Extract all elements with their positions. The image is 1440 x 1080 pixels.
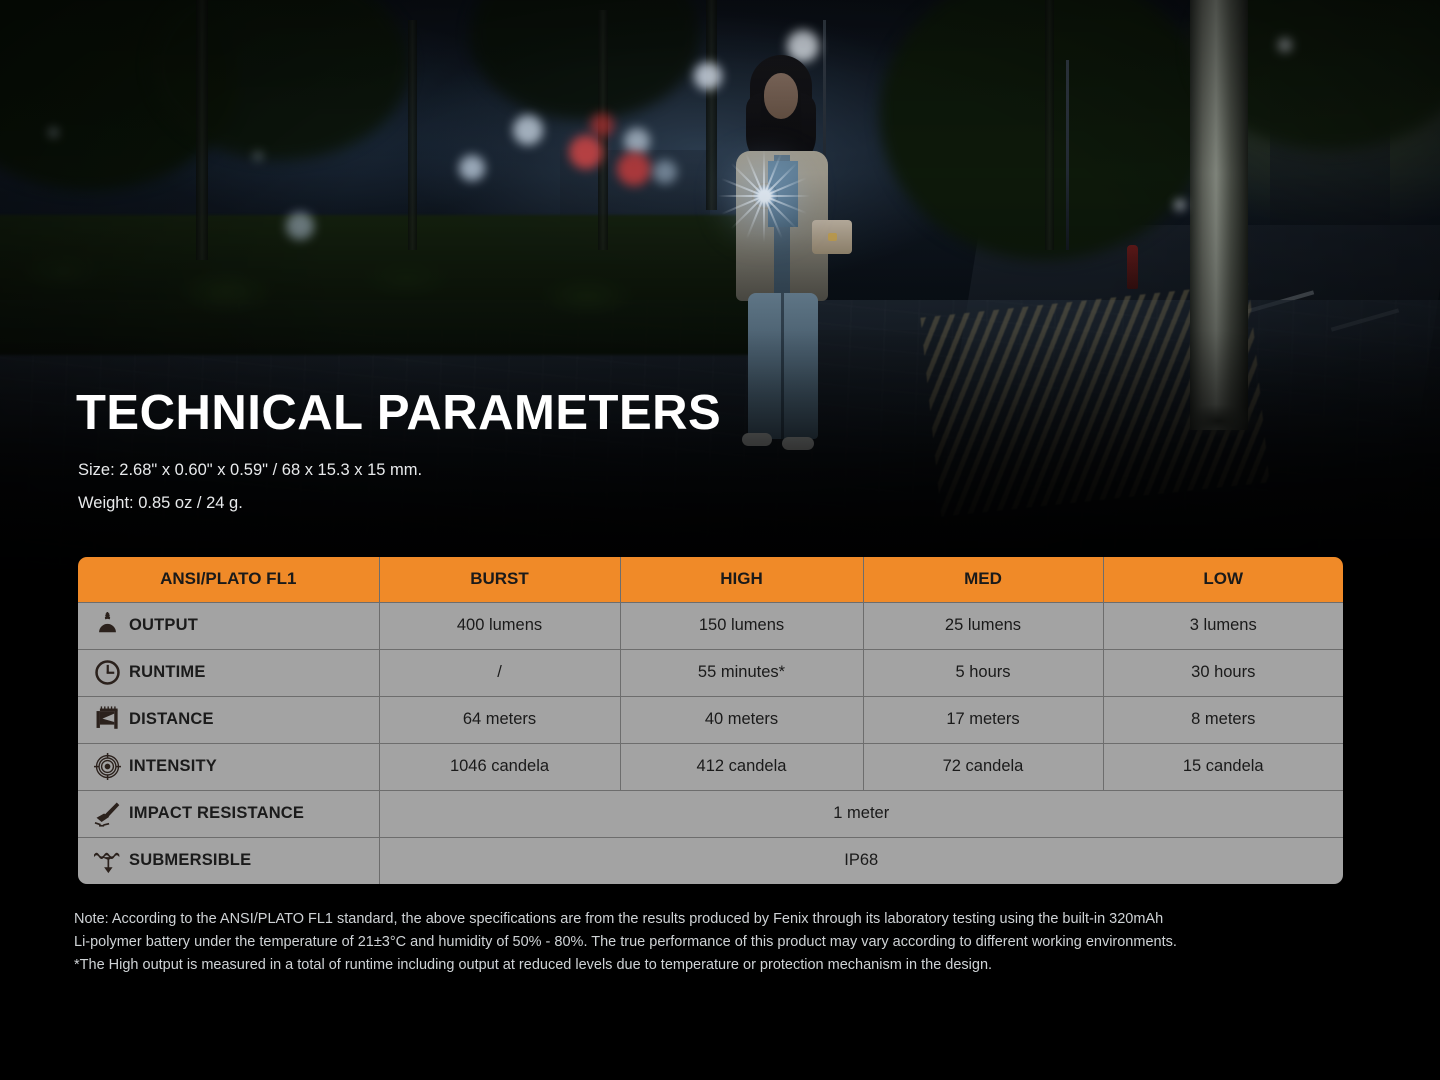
cell-intensity-low: 15 candela [1103, 743, 1343, 790]
content-layer: TECHNICAL PARAMETERS Size: 2.68" x 0.60"… [0, 0, 1440, 1080]
sunburst-icon [94, 612, 121, 639]
table-row: DISTANCE 64 meters 40 meters 17 meters 8… [78, 696, 1343, 743]
table-row: SUBMERSIBLE IP68 [78, 837, 1343, 884]
table-row: INTENSITY 1046 candela 412 candela 72 ca… [78, 743, 1343, 790]
table-row: IMPACT RESISTANCE 1 meter [78, 790, 1343, 837]
cell-distance-low: 8 meters [1103, 696, 1343, 743]
cell-runtime-low: 30 hours [1103, 649, 1343, 696]
cell-output-med: 25 lumens [863, 602, 1103, 649]
target-intensity-icon [94, 753, 121, 780]
row-label-text: INTENSITY [129, 757, 217, 776]
beam-distance-icon [94, 706, 121, 733]
size-line: Size: 2.68" x 0.60" x 0.59" / 68 x 15.3 … [78, 461, 422, 480]
clock-icon [94, 659, 121, 686]
cell-output-low: 3 lumens [1103, 602, 1343, 649]
footnote-block: Note: According to the ANSI/PLATO FL1 st… [74, 908, 1374, 977]
row-label-distance: DISTANCE [78, 696, 379, 743]
row-label-intensity: INTENSITY [78, 743, 379, 790]
header-cell-burst: BURST [379, 557, 620, 602]
cell-distance-high: 40 meters [620, 696, 863, 743]
header-cell-spec: ANSI/PLATO FL1 [78, 557, 379, 602]
footnote-line-2: Li-polymer battery under the temperature… [74, 931, 1374, 954]
table-row: RUNTIME / 55 minutes* 5 hours 30 hours [78, 649, 1343, 696]
cell-submersible-value: IP68 [379, 837, 1343, 884]
cell-output-high: 150 lumens [620, 602, 863, 649]
cell-output-burst: 400 lumens [379, 602, 620, 649]
water-submersible-icon [94, 847, 121, 874]
table-row: OUTPUT 400 lumens 150 lumens 25 lumens 3… [78, 602, 1343, 649]
spec-table-element: ANSI/PLATO FL1 BURST HIGH MED LOW [78, 557, 1343, 884]
row-label-runtime: RUNTIME [78, 649, 379, 696]
row-label-text: DISTANCE [129, 710, 214, 729]
header-cell-high: HIGH [620, 557, 863, 602]
cell-runtime-med: 5 hours [863, 649, 1103, 696]
footnote-line-3: *The High output is measured in a total … [74, 954, 1374, 977]
row-label-output: OUTPUT [78, 602, 379, 649]
row-label-text: IMPACT RESISTANCE [129, 804, 304, 823]
cell-intensity-med: 72 candela [863, 743, 1103, 790]
footnote-line-1: Note: According to the ANSI/PLATO FL1 st… [74, 908, 1374, 931]
technical-parameters-table: ANSI/PLATO FL1 BURST HIGH MED LOW [78, 557, 1343, 884]
cell-impact-resistance-value: 1 meter [379, 790, 1343, 837]
row-label-text: RUNTIME [129, 663, 206, 682]
row-label-text: SUBMERSIBLE [129, 851, 251, 870]
cell-runtime-high: 55 minutes* [620, 649, 863, 696]
row-label-impact-resistance: IMPACT RESISTANCE [78, 790, 379, 837]
table-body: OUTPUT 400 lumens 150 lumens 25 lumens 3… [78, 602, 1343, 884]
cell-distance-med: 17 meters [863, 696, 1103, 743]
page-title: TECHNICAL PARAMETERS [76, 385, 721, 441]
cell-runtime-burst: / [379, 649, 620, 696]
impact-hammer-icon [94, 800, 121, 827]
cell-intensity-burst: 1046 candela [379, 743, 620, 790]
row-label-text: OUTPUT [129, 616, 198, 635]
row-label-submersible: SUBMERSIBLE [78, 837, 379, 884]
header-cell-med: MED [863, 557, 1103, 602]
table-head: ANSI/PLATO FL1 BURST HIGH MED LOW [78, 557, 1343, 602]
cell-distance-burst: 64 meters [379, 696, 620, 743]
cell-intensity-high: 412 candela [620, 743, 863, 790]
weight-line: Weight: 0.85 oz / 24 g. [78, 494, 243, 513]
table-header-row: ANSI/PLATO FL1 BURST HIGH MED LOW [78, 557, 1343, 602]
header-cell-low: LOW [1103, 557, 1343, 602]
